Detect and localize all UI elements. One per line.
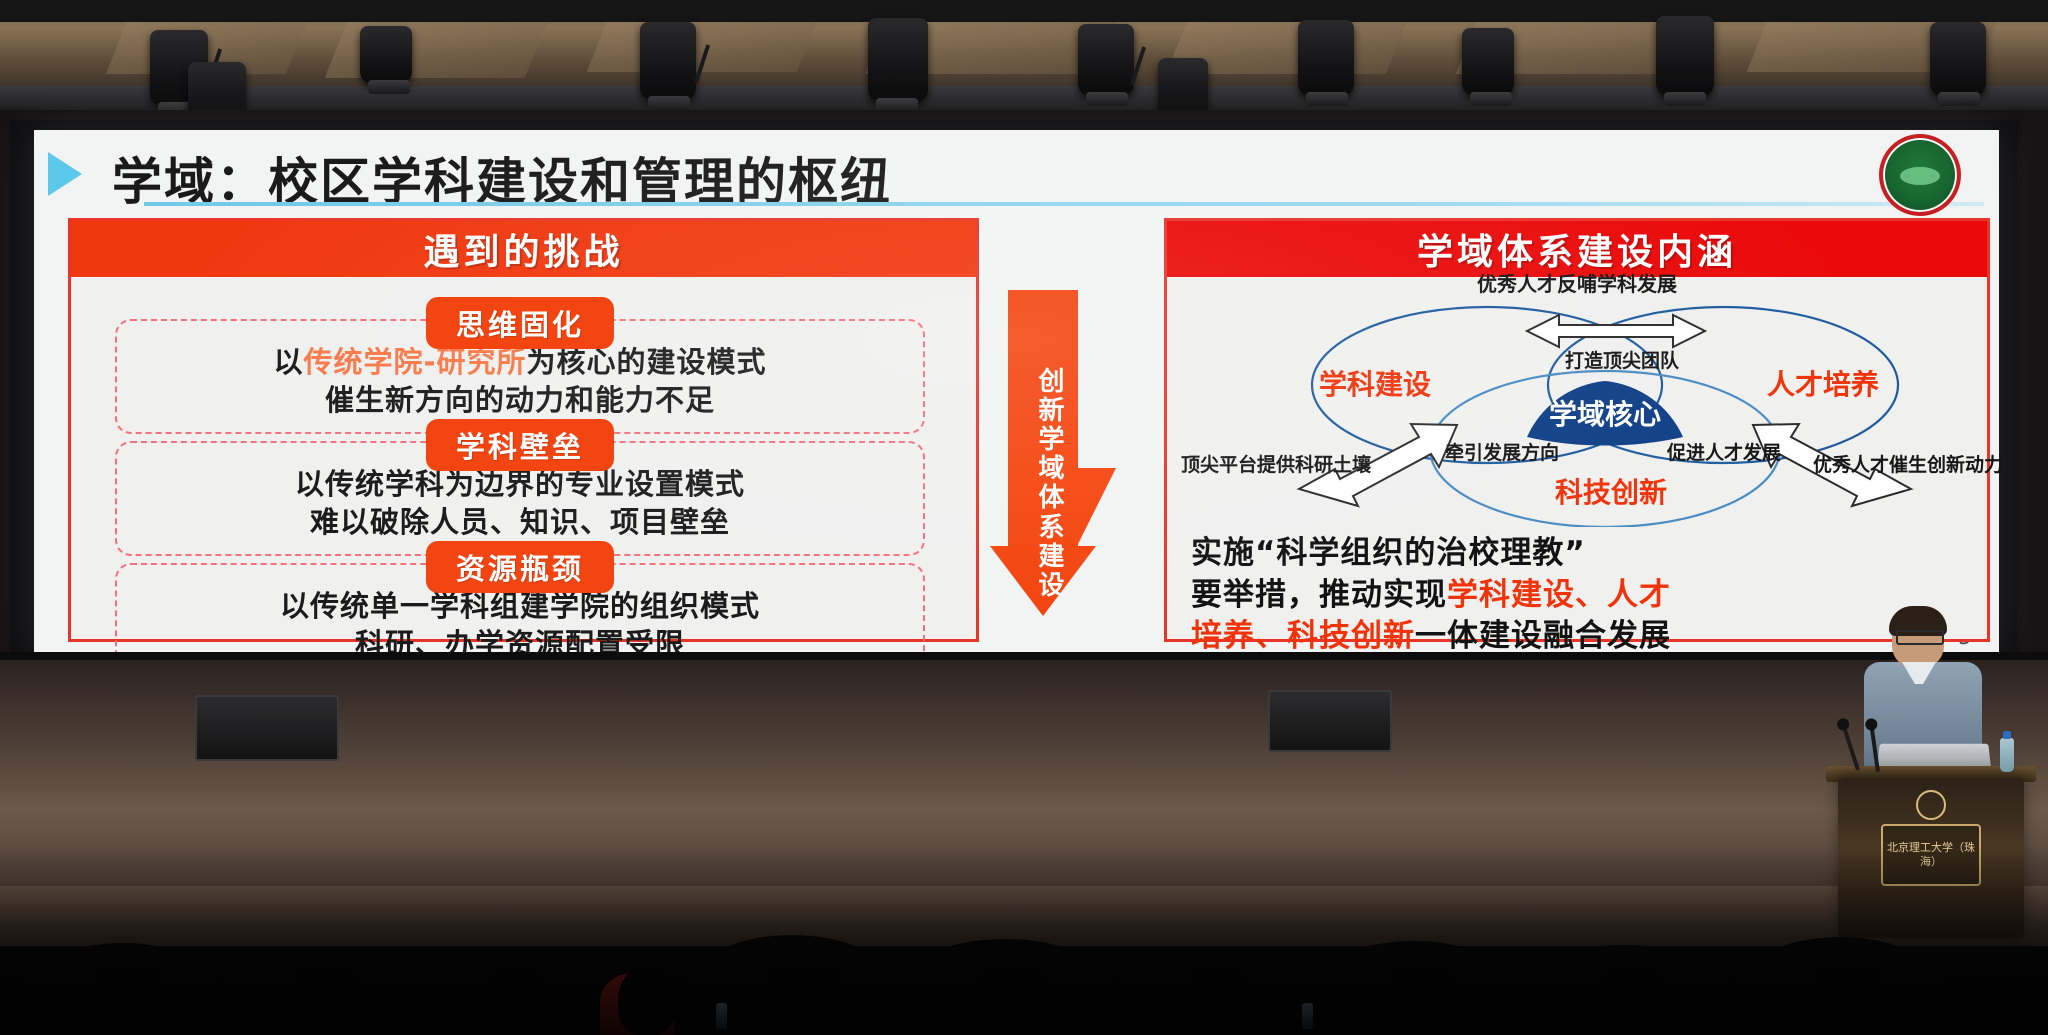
- venn-circle-label-top-left: 学科建设: [1319, 369, 1431, 400]
- presentation-slide: 学域：校区学科建设和管理的枢纽 3 遇到的挑战 思维固化 以传统学院-研究所为核…: [34, 130, 1999, 655]
- stage-light: [1656, 16, 1714, 96]
- transition-arrow: 创新学域体系建设: [986, 250, 1154, 620]
- water-bottle: [2000, 738, 2014, 772]
- venn-circle-label-top-right: 人才培养: [1767, 369, 1879, 400]
- speaker-cabinet: [1268, 690, 1392, 752]
- venn-intersection-top: 打造顶尖团队: [1565, 351, 1675, 372]
- stage-light: [360, 26, 412, 84]
- double-arrow-icon: [1527, 315, 1705, 347]
- conclusion-line-1: 实施“科学组织的治校理教”: [1191, 533, 1966, 575]
- stage-light: [640, 22, 696, 100]
- stage-light: [1930, 22, 1986, 96]
- venn-diagram: 优秀人才反哺学科发展 学科建设 人才培养 科技创新 打造顶尖团队 学域核心 牵引…: [1167, 277, 1987, 527]
- system-header-label: 学域体系建设内涵: [1417, 223, 1737, 275]
- challenge-tag: 资源瓶颈: [426, 541, 614, 593]
- venn-annotation-left: 顶尖平台提供科研土壤: [1181, 455, 1351, 476]
- stage-light: [868, 18, 928, 102]
- conclusion-line-2: 要举措，推动实现学科建设、人才: [1191, 575, 1966, 617]
- venn-intersection-bottom-right: 促进人才发展: [1667, 443, 1773, 464]
- stage-light: [1462, 28, 1514, 96]
- glasses-icon: [1896, 630, 1944, 645]
- venn-core-label: 学域核心: [1549, 399, 1661, 430]
- venn-intersection-bottom-left: 牵引发展方向: [1445, 443, 1551, 464]
- venn-annotation-right: 优秀人才催生创新动力: [1813, 455, 1983, 476]
- challenge-line-2: 催生新方向的动力和能力不足: [127, 381, 913, 419]
- audience-shadow-overlay: [0, 845, 2048, 1035]
- challenges-panel-header: 遇到的挑战: [71, 221, 976, 277]
- arrow-label: 创新学域体系建设: [1030, 368, 1074, 601]
- speaker-cabinet: [195, 695, 339, 761]
- challenge-tag: 思维固化: [426, 297, 614, 349]
- stage-light: [1298, 20, 1354, 96]
- university-logo-icon: [1879, 134, 1961, 216]
- venn-circle-label-bottom: 科技创新: [1555, 477, 1667, 508]
- title-arrow-icon: [48, 152, 82, 196]
- title-divider: [144, 202, 1984, 206]
- challenge-highlight: 传统学院-研究所: [303, 345, 526, 379]
- conclusion-highlight-2: 培养、科技创新: [1191, 618, 1415, 654]
- right-wall: [2022, 110, 2048, 710]
- challenges-panel: 遇到的挑战 思维固化 以传统学院-研究所为核心的建设模式 催生新方向的动力和能力…: [68, 218, 979, 642]
- conclusion-highlight-1: 学科建设、人才: [1447, 577, 1671, 613]
- conference-hall-scene: 学域：校区学科建设和管理的枢纽 3 遇到的挑战 思维固化 以传统学院-研究所为核…: [0, 0, 2048, 1035]
- venn-annotation-top: 优秀人才反哺学科发展: [1477, 273, 1677, 295]
- challenge-tag: 学科壁垒: [426, 419, 614, 471]
- challenge-line-2: 难以破除人员、知识、项目壁垒: [127, 503, 913, 541]
- conclusion-text: 实施“科学组织的治校理教” 要举措，推动实现学科建设、人才 培养、科技创新一体建…: [1191, 533, 1966, 658]
- system-panel: 学域体系建设内涵: [1164, 218, 1990, 642]
- challenges-header-label: 遇到的挑战: [423, 223, 623, 275]
- stage-light: [1078, 24, 1134, 96]
- projection-screen: 学域：校区学科建设和管理的枢纽 3 遇到的挑战 思维固化 以传统学院-研究所为核…: [34, 130, 1999, 655]
- university-emblem-icon: [1916, 790, 1946, 820]
- system-panel-header: 学域体系建设内涵: [1167, 221, 1987, 277]
